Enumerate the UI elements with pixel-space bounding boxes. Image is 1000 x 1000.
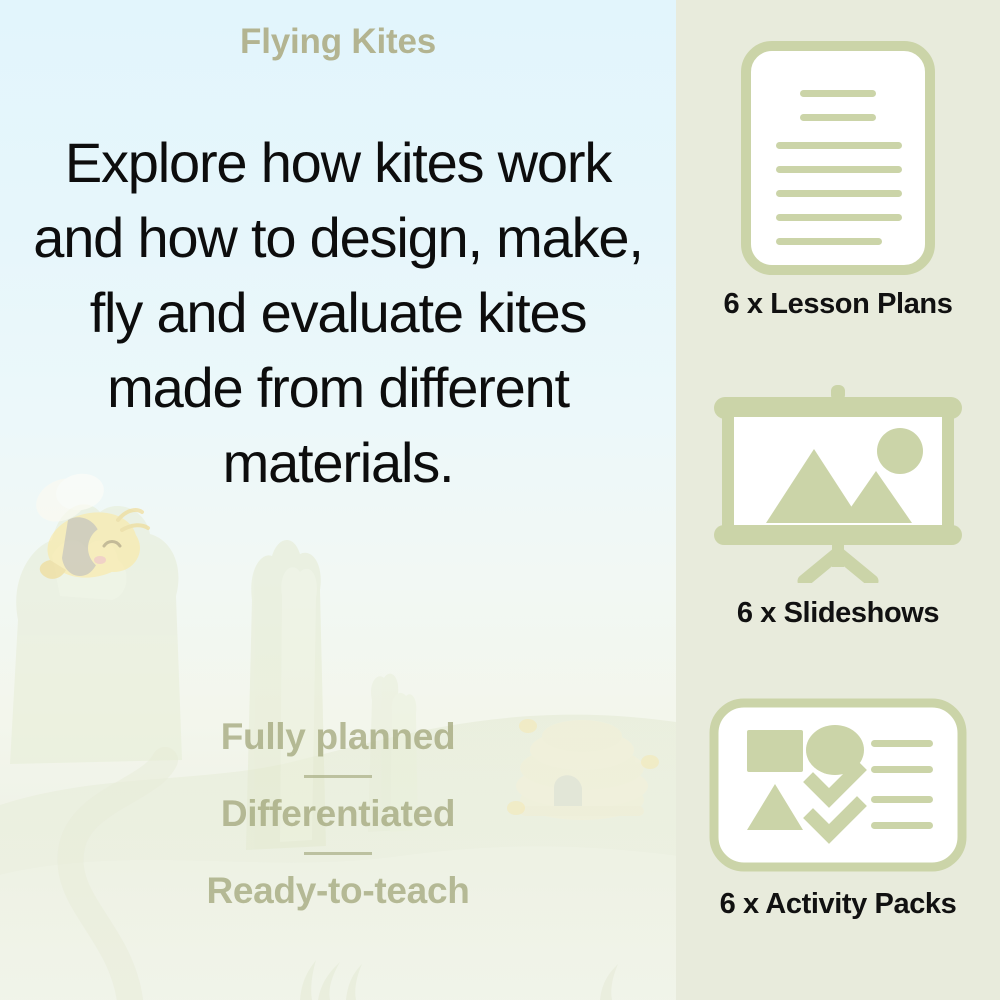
feature-label-activity-packs: 6 x Activity Packs xyxy=(720,888,957,921)
headline-description: Explore how kites work and how to design… xyxy=(28,125,648,500)
feature-lesson-plans: 6 x Lesson Plans xyxy=(676,38,1000,321)
left-content: Flying Kites Explore how kites work and … xyxy=(0,0,676,1000)
feature-slideshows: 6 x Slideshows xyxy=(676,383,1000,630)
tagline-fully-planned: Fully planned xyxy=(0,718,676,757)
tagline-divider-1 xyxy=(304,775,372,778)
left-panel: Flying Kites Explore how kites work and … xyxy=(0,0,676,1000)
tagline-differentiated: Differentiated xyxy=(0,795,676,834)
right-panel: 6 x Lesson Plans xyxy=(676,0,1000,1000)
feature-label-slideshows: 6 x Slideshows xyxy=(737,597,939,630)
feature-activity-packs: 6 x Activity Packs xyxy=(676,696,1000,921)
projector-screen-icon xyxy=(704,383,972,583)
poster-canvas: Flying Kites Explore how kites work and … xyxy=(0,0,1000,1000)
tagline-ready-to-teach: Ready-to-teach xyxy=(0,872,676,911)
tagline-divider-2 xyxy=(304,852,372,855)
tagline-group: Fully planned Differentiated Ready-to-te… xyxy=(0,718,676,911)
page-title: Flying Kites xyxy=(0,22,676,62)
activity-card-icon xyxy=(707,696,969,874)
feature-label-lesson-plans: 6 x Lesson Plans xyxy=(724,288,953,321)
document-icon xyxy=(738,38,938,278)
